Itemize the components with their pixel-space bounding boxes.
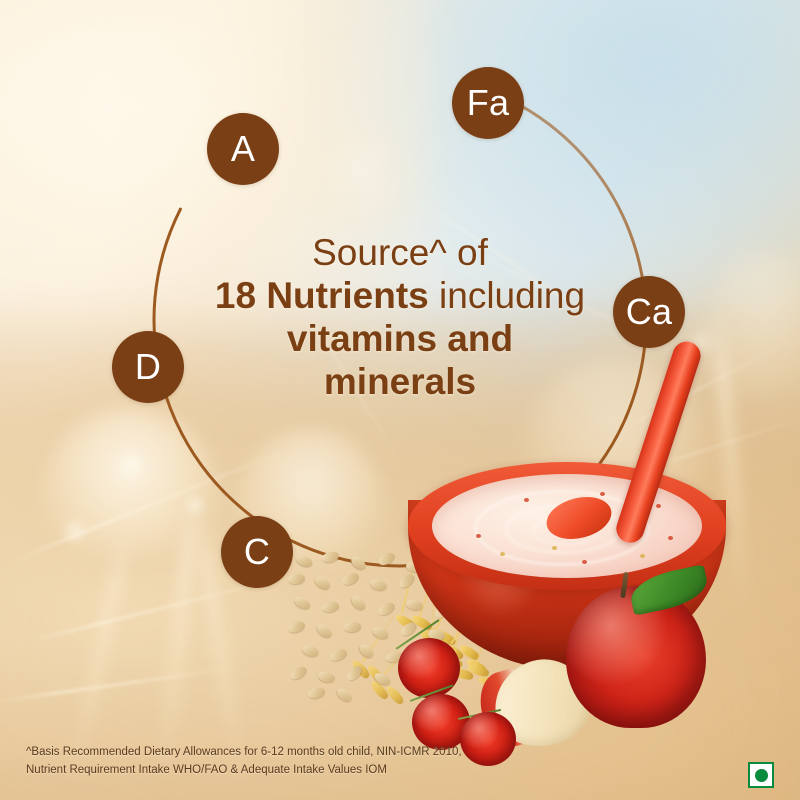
headline-block: Source^ of 18 Nutrients including vitami… xyxy=(0,232,800,404)
headline-line-3: vitamins and xyxy=(0,318,800,361)
vegetarian-dot-icon xyxy=(755,769,768,782)
headline-line-4: minerals xyxy=(0,361,800,404)
footnote: ^Basis Recommended Dietary Allowances fo… xyxy=(26,744,586,780)
headline-line-2-rest: including xyxy=(429,275,585,316)
footnote-line-1: ^Basis Recommended Dietary Allowances fo… xyxy=(26,744,586,762)
nutrient-badge-label: C xyxy=(244,534,270,570)
headline-line-1: Source^ of xyxy=(0,232,800,275)
nutrition-banner: A Fa Ca D C Source^ of 18 Nutrients incl… xyxy=(0,0,800,800)
vegetarian-mark xyxy=(748,762,774,788)
headline-line-2: 18 Nutrients including xyxy=(0,275,800,318)
nutrient-badge-label: A xyxy=(231,131,255,167)
nutrient-badge-label: Fa xyxy=(467,85,509,121)
headline-line-4-text: minerals xyxy=(324,361,476,402)
nutrient-badge-folic-acid[interactable]: Fa xyxy=(452,67,524,139)
footnote-line-2: Nutrient Requirement Intake WHO/FAO & Ad… xyxy=(26,762,586,780)
nutrient-badge-vitamin-c[interactable]: C xyxy=(221,516,293,588)
headline-line-3-text: vitamins and xyxy=(287,318,513,359)
headline-nutrient-count: 18 Nutrients xyxy=(215,275,429,316)
nutrient-badge-vitamin-a[interactable]: A xyxy=(207,113,279,185)
